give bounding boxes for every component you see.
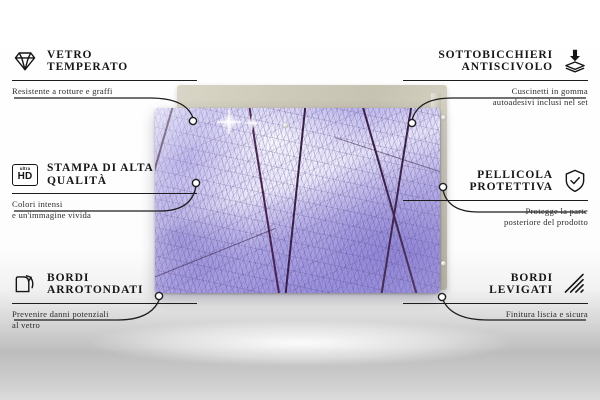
diamond-icon bbox=[12, 48, 38, 74]
feature-subtitle: Protegge la parte posteriore del prodott… bbox=[403, 206, 588, 228]
feature-header: BORDI LEVIGATI bbox=[403, 271, 588, 297]
feature-subtitle: Colori intensi e un'immagine vivida bbox=[12, 199, 197, 221]
feature-header: VETRO TEMPERATO bbox=[12, 48, 197, 74]
feature-subtitle-line2: e un'immagine vivida bbox=[12, 210, 197, 221]
feature-title-line2: TEMPERATO bbox=[47, 61, 128, 74]
divider bbox=[403, 303, 588, 304]
feature-title: BORDI ARROTONDATI bbox=[47, 272, 143, 297]
feature-header: PELLICOLA PROTETTIVA bbox=[403, 168, 588, 194]
feature-title-line1: SOTTOBICCHIERI bbox=[438, 49, 553, 62]
feature-title-line1: STAMPA DI ALTA bbox=[47, 162, 154, 175]
leaf-veins-primary bbox=[155, 108, 440, 293]
divider bbox=[403, 200, 588, 201]
feature-sottobicchieri-antiscivolo: SOTTOBICCHIERI ANTISCIVOLO Cuscinetti in… bbox=[403, 48, 588, 108]
ultra-hd-icon: ultra HD bbox=[12, 164, 38, 186]
feature-bordi-arrotondati: BORDI ARROTONDATI Prevenire danni potenz… bbox=[12, 271, 197, 331]
feature-title-line1: BORDI bbox=[489, 272, 553, 285]
mount-screw bbox=[441, 115, 446, 120]
feature-subtitle-line2: posteriore del prodotto bbox=[403, 217, 588, 228]
divider bbox=[12, 303, 197, 304]
feature-title-line1: BORDI bbox=[47, 272, 143, 285]
rounded-corner-icon bbox=[12, 271, 38, 297]
feature-bordi-levigati: BORDI LEVIGATI Finitura liscia e sicura bbox=[403, 271, 588, 320]
feature-title-line1: PELLICOLA bbox=[469, 169, 553, 182]
feature-subtitle-line1: Protegge la parte bbox=[403, 206, 588, 217]
feature-title: BORDI LEVIGATI bbox=[489, 272, 553, 297]
feature-title-line2: PROTETTIVA bbox=[469, 181, 553, 194]
mount-screw bbox=[441, 261, 446, 266]
shield-check-icon bbox=[562, 168, 588, 194]
divider bbox=[403, 80, 588, 81]
feature-subtitle-line1: Cuscinetti in gomma bbox=[403, 86, 588, 97]
mount-screw bbox=[283, 123, 288, 128]
anti-slip-pad-icon bbox=[562, 48, 588, 74]
feature-title: SOTTOBICCHIERI ANTISCIVOLO bbox=[438, 49, 553, 74]
feature-subtitle-line1: Resistente a rotture e graffi bbox=[12, 86, 197, 97]
divider bbox=[12, 193, 197, 194]
feature-subtitle: Cuscinetti in gomma autoadesivi inclusi … bbox=[403, 86, 588, 108]
feature-title-line2: ARROTONDATI bbox=[47, 284, 143, 297]
feature-subtitle-line2: al vetro bbox=[12, 320, 197, 331]
feature-subtitle-line1: Colori intensi bbox=[12, 199, 197, 210]
feature-subtitle-line1: Prevenire danni potenziali bbox=[12, 309, 197, 320]
product-glass-board bbox=[155, 108, 440, 293]
feature-subtitle: Resistente a rotture e graffi bbox=[12, 86, 197, 97]
infographic-canvas: VETRO TEMPERATO Resistente a rotture e g… bbox=[0, 0, 600, 400]
feature-header: SOTTOBICCHIERI ANTISCIVOLO bbox=[403, 48, 588, 74]
feature-header: BORDI ARROTONDATI bbox=[12, 271, 197, 297]
feature-subtitle: Prevenire danni potenziali al vetro bbox=[12, 309, 197, 331]
feature-title-line2: ANTISCIVOLO bbox=[438, 61, 553, 74]
feature-stampa-di-alta-qualita: ultra HD STAMPA DI ALTA QUALITÀ Colori i… bbox=[12, 162, 197, 221]
feature-title-line2: LEVIGATI bbox=[489, 284, 553, 297]
feature-vetro-temperato: VETRO TEMPERATO Resistente a rotture e g… bbox=[12, 48, 197, 97]
feature-title: PELLICOLA PROTETTIVA bbox=[469, 169, 553, 194]
feature-header: ultra HD STAMPA DI ALTA QUALITÀ bbox=[12, 162, 197, 187]
feature-pellicola-protettiva: PELLICOLA PROTETTIVA Protegge la parte p… bbox=[403, 168, 588, 228]
feature-subtitle-line1: Finitura liscia e sicura bbox=[403, 309, 588, 320]
divider bbox=[12, 80, 197, 81]
feature-subtitle: Finitura liscia e sicura bbox=[403, 309, 588, 320]
feature-title-line2: QUALITÀ bbox=[47, 175, 154, 188]
feature-title: STAMPA DI ALTA QUALITÀ bbox=[47, 162, 154, 187]
feature-subtitle-line2: autoadesivi inclusi nel set bbox=[403, 97, 588, 108]
diagonal-lines-icon bbox=[562, 271, 588, 297]
ultra-hd-bottom-label: HD bbox=[18, 172, 33, 182]
feature-title: VETRO TEMPERATO bbox=[47, 49, 128, 74]
feature-title-line1: VETRO bbox=[47, 49, 128, 62]
